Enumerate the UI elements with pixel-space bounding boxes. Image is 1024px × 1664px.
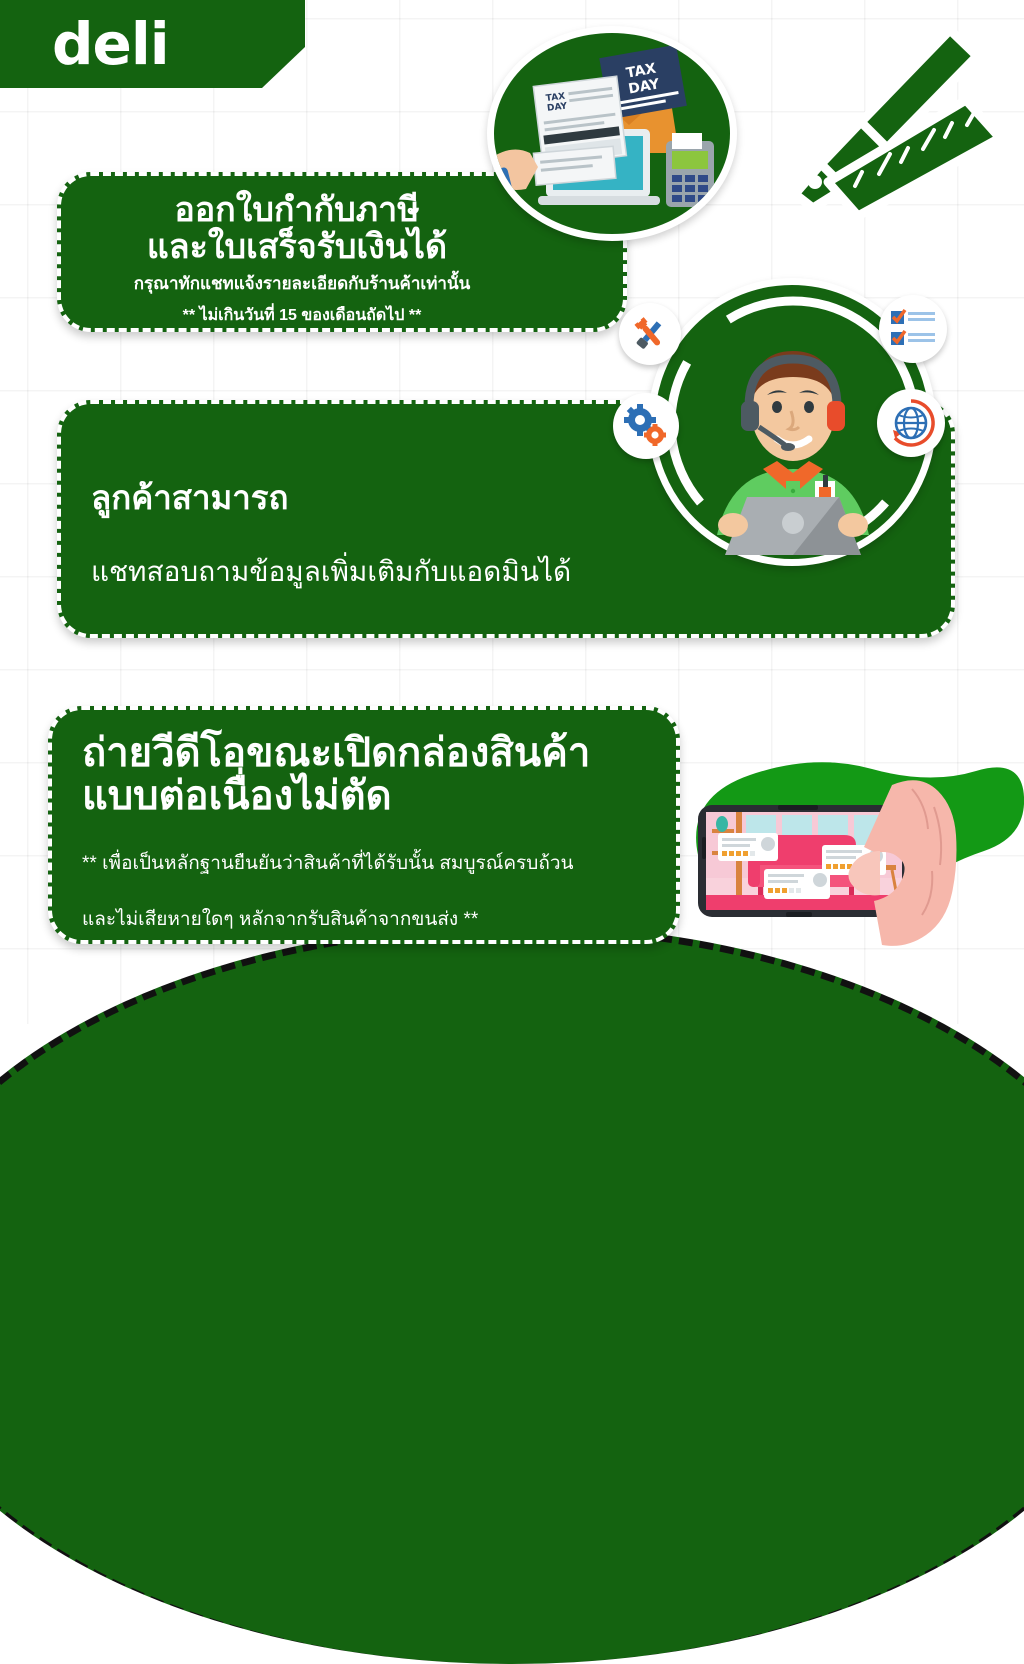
globe-icon — [877, 389, 945, 457]
bottom-green-arc — [0, 924, 1024, 1664]
tax-card-line4: ** ไม่เกินวันที่ 15 ของเดือนถัดไป ** — [91, 297, 623, 328]
checklist-icon — [879, 295, 947, 363]
video-card-line2: แบบต่อเนื่องไม่ตัด — [82, 775, 676, 818]
tax-card-line3: กรุณาทักแชทแจ้งรายละเอียดกับร้านค้าเท่าน… — [91, 265, 623, 297]
tax-card-line2: และใบเสร็จรับเงินได้ — [91, 229, 623, 266]
tools-icon — [619, 303, 681, 365]
brand-logo-banner: deli — [0, 0, 305, 88]
video-card-line4: และไม่เสียหายใดๆ หลักจากรับสินค้าจากขนส่… — [82, 878, 676, 934]
gears-icon — [613, 393, 679, 459]
pen-and-ruler-icon — [775, 22, 1020, 232]
customer-support-illustration — [648, 278, 936, 566]
unboxing-video-illustration — [640, 745, 1024, 995]
tax-documents-illustration: TAX DAY TAX DAY — [487, 26, 737, 241]
brand-logo-text: deli — [52, 15, 169, 73]
video-card-line1: ถ่ายวีดีโอขณะเปิดกล่องสินค้า — [82, 710, 676, 775]
video-card-line3: ** เพื่อเป็นหลักฐานยืนยันว่าสินค้าที่ได้… — [82, 818, 676, 878]
unboxing-video-card: ถ่ายวีดีโอขณะเปิดกล่องสินค้า แบบต่อเนื่อ… — [48, 706, 680, 944]
